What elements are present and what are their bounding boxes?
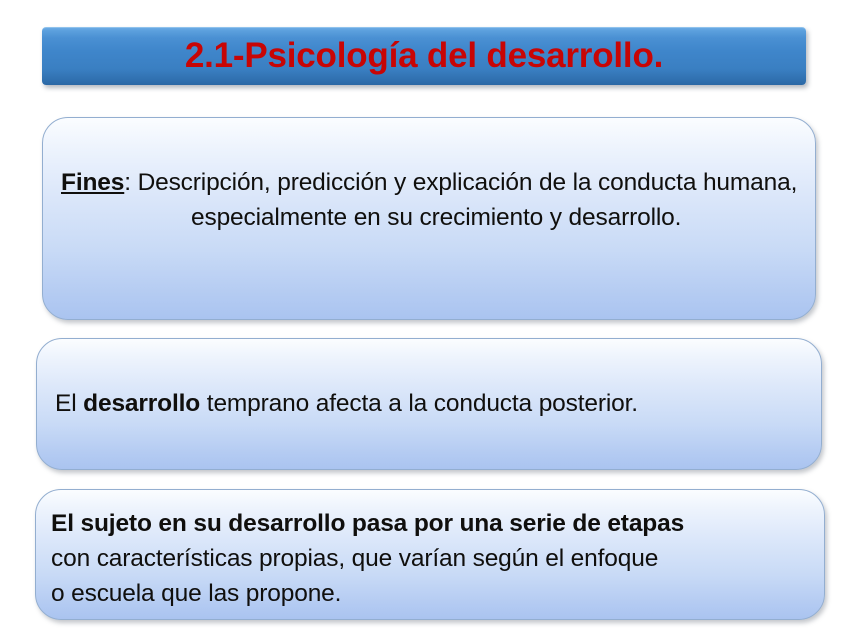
desarrollo-paragraph: El desarrollo temprano afecta a la condu… [55, 386, 805, 421]
content-box-desarrollo: El desarrollo temprano afecta a la condu… [36, 338, 822, 470]
content-box-etapas: El sujeto en su desarrollo pasa por una … [35, 489, 825, 620]
slide-title-banner: 2.1-Psicología del desarrollo. [42, 27, 806, 85]
desarrollo-text-after: temprano afecta a la conducta posterior. [200, 390, 638, 417]
desarrollo-text-before: El [55, 390, 83, 417]
etapas-line-2: con características propias, que varían … [51, 545, 658, 572]
fines-label: Fines [61, 169, 124, 196]
fines-paragraph: Fines: Descripción, predicción y explica… [61, 165, 799, 235]
etapas-bold-line: El sujeto en su desarrollo pasa por una … [51, 510, 684, 537]
etapas-line-3: o escuela que las propone. [51, 580, 341, 607]
etapas-paragraph: El sujeto en su desarrollo pasa por una … [51, 506, 810, 611]
fines-body: : Descripción, predicción y explicación … [124, 169, 797, 231]
content-box-fines: Fines: Descripción, predicción y explica… [42, 117, 816, 320]
page-title: 2.1-Psicología del desarrollo. [185, 38, 663, 75]
desarrollo-emphasis: desarrollo [83, 390, 200, 417]
